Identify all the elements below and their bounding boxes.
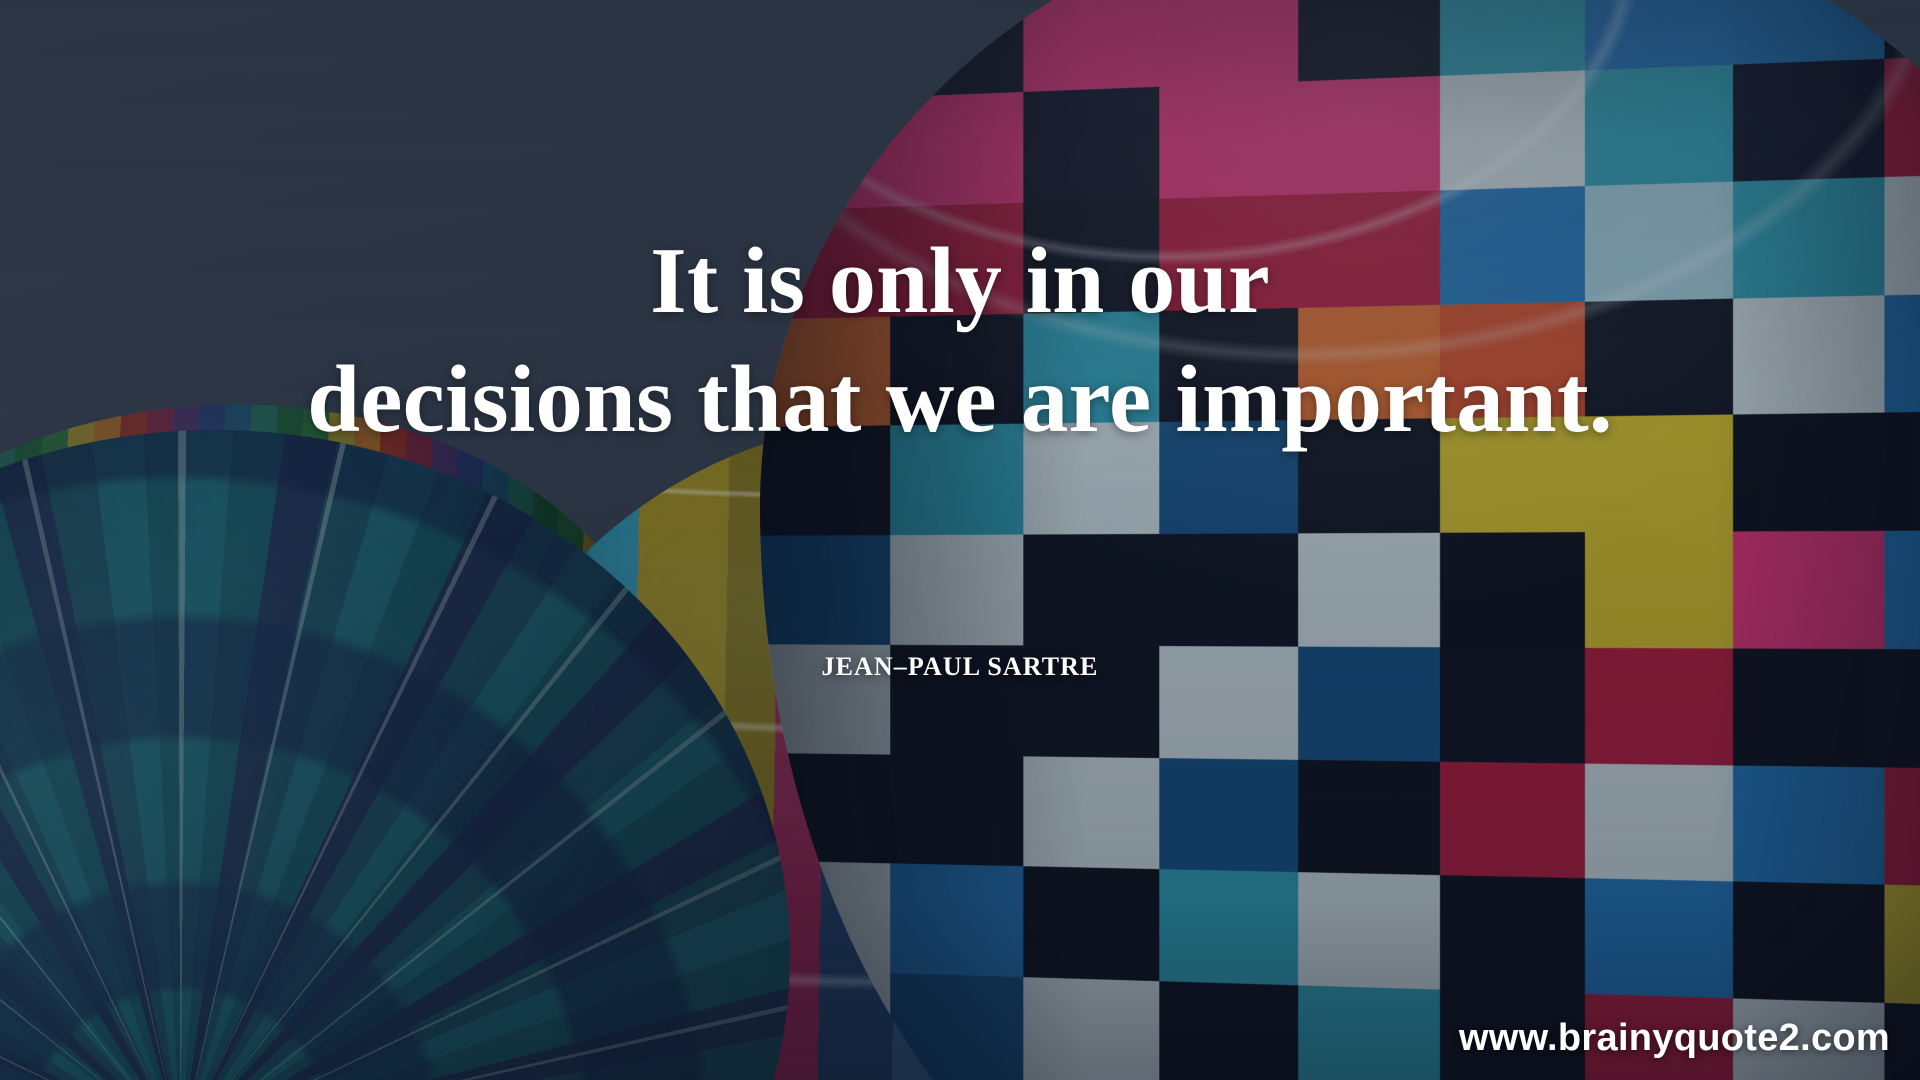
quote-line-2: decisions that we are important. [0,340,1920,458]
site-watermark: www.brainyquote2.com [1459,1017,1890,1060]
checkerboard-panel [760,969,890,1080]
checkerboard-balloon [760,0,1920,1080]
teal-spiral-balloon [0,430,790,1080]
quote-card-canvas: It is only in our decisions that we are … [0,0,1920,1080]
quote-block: It is only in our decisions that we are … [0,222,1920,458]
checkerboard-balloon-shading [760,0,1920,1080]
quote-line-1: It is only in our [0,222,1920,340]
teal-spiral-balloon-shading [0,430,790,1080]
checkerboard-panel [760,0,890,103]
quote-attribution: JEAN–PAUL SARTRE [0,652,1920,682]
